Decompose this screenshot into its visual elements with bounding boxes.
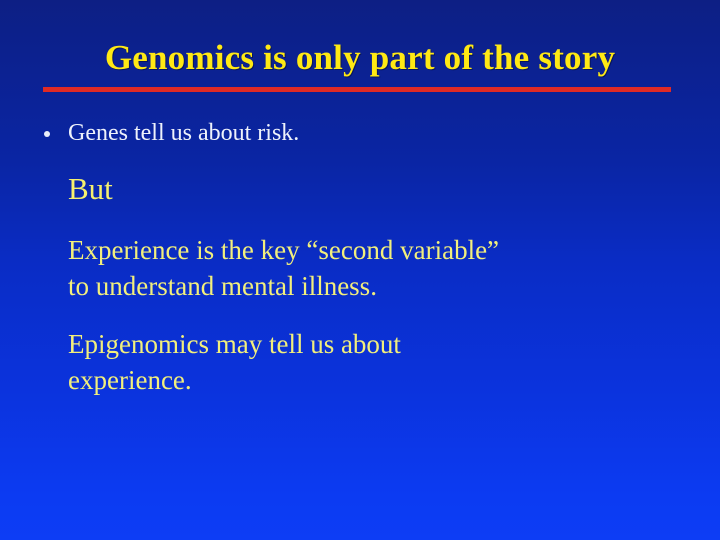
bullet-item: Genes tell us about risk.	[0, 116, 720, 150]
slide-title: Genomics is only part of the story	[105, 36, 615, 80]
bullet-dot-icon	[44, 131, 50, 137]
paragraph-line: Experience is the key “second variable”	[68, 232, 708, 268]
presentation-slide: Genomics is only part of the story Genes…	[0, 0, 720, 540]
paragraph-line: Epigenomics may tell us about	[68, 326, 708, 362]
slide-body: Genes tell us about risk. But Experience…	[0, 116, 720, 398]
paragraph-epigenomics: Epigenomics may tell us about experience…	[0, 326, 708, 398]
lead-line: But	[0, 168, 720, 210]
bullet-item-label: Genes tell us about risk.	[68, 120, 299, 146]
paragraph-line: experience.	[68, 362, 708, 398]
paragraph-experience: Experience is the key “second variable” …	[0, 232, 708, 304]
slide-title-container: Genomics is only part of the story	[0, 36, 720, 80]
title-underline-rule	[43, 87, 671, 92]
paragraph-line: to understand mental illness.	[68, 268, 708, 304]
